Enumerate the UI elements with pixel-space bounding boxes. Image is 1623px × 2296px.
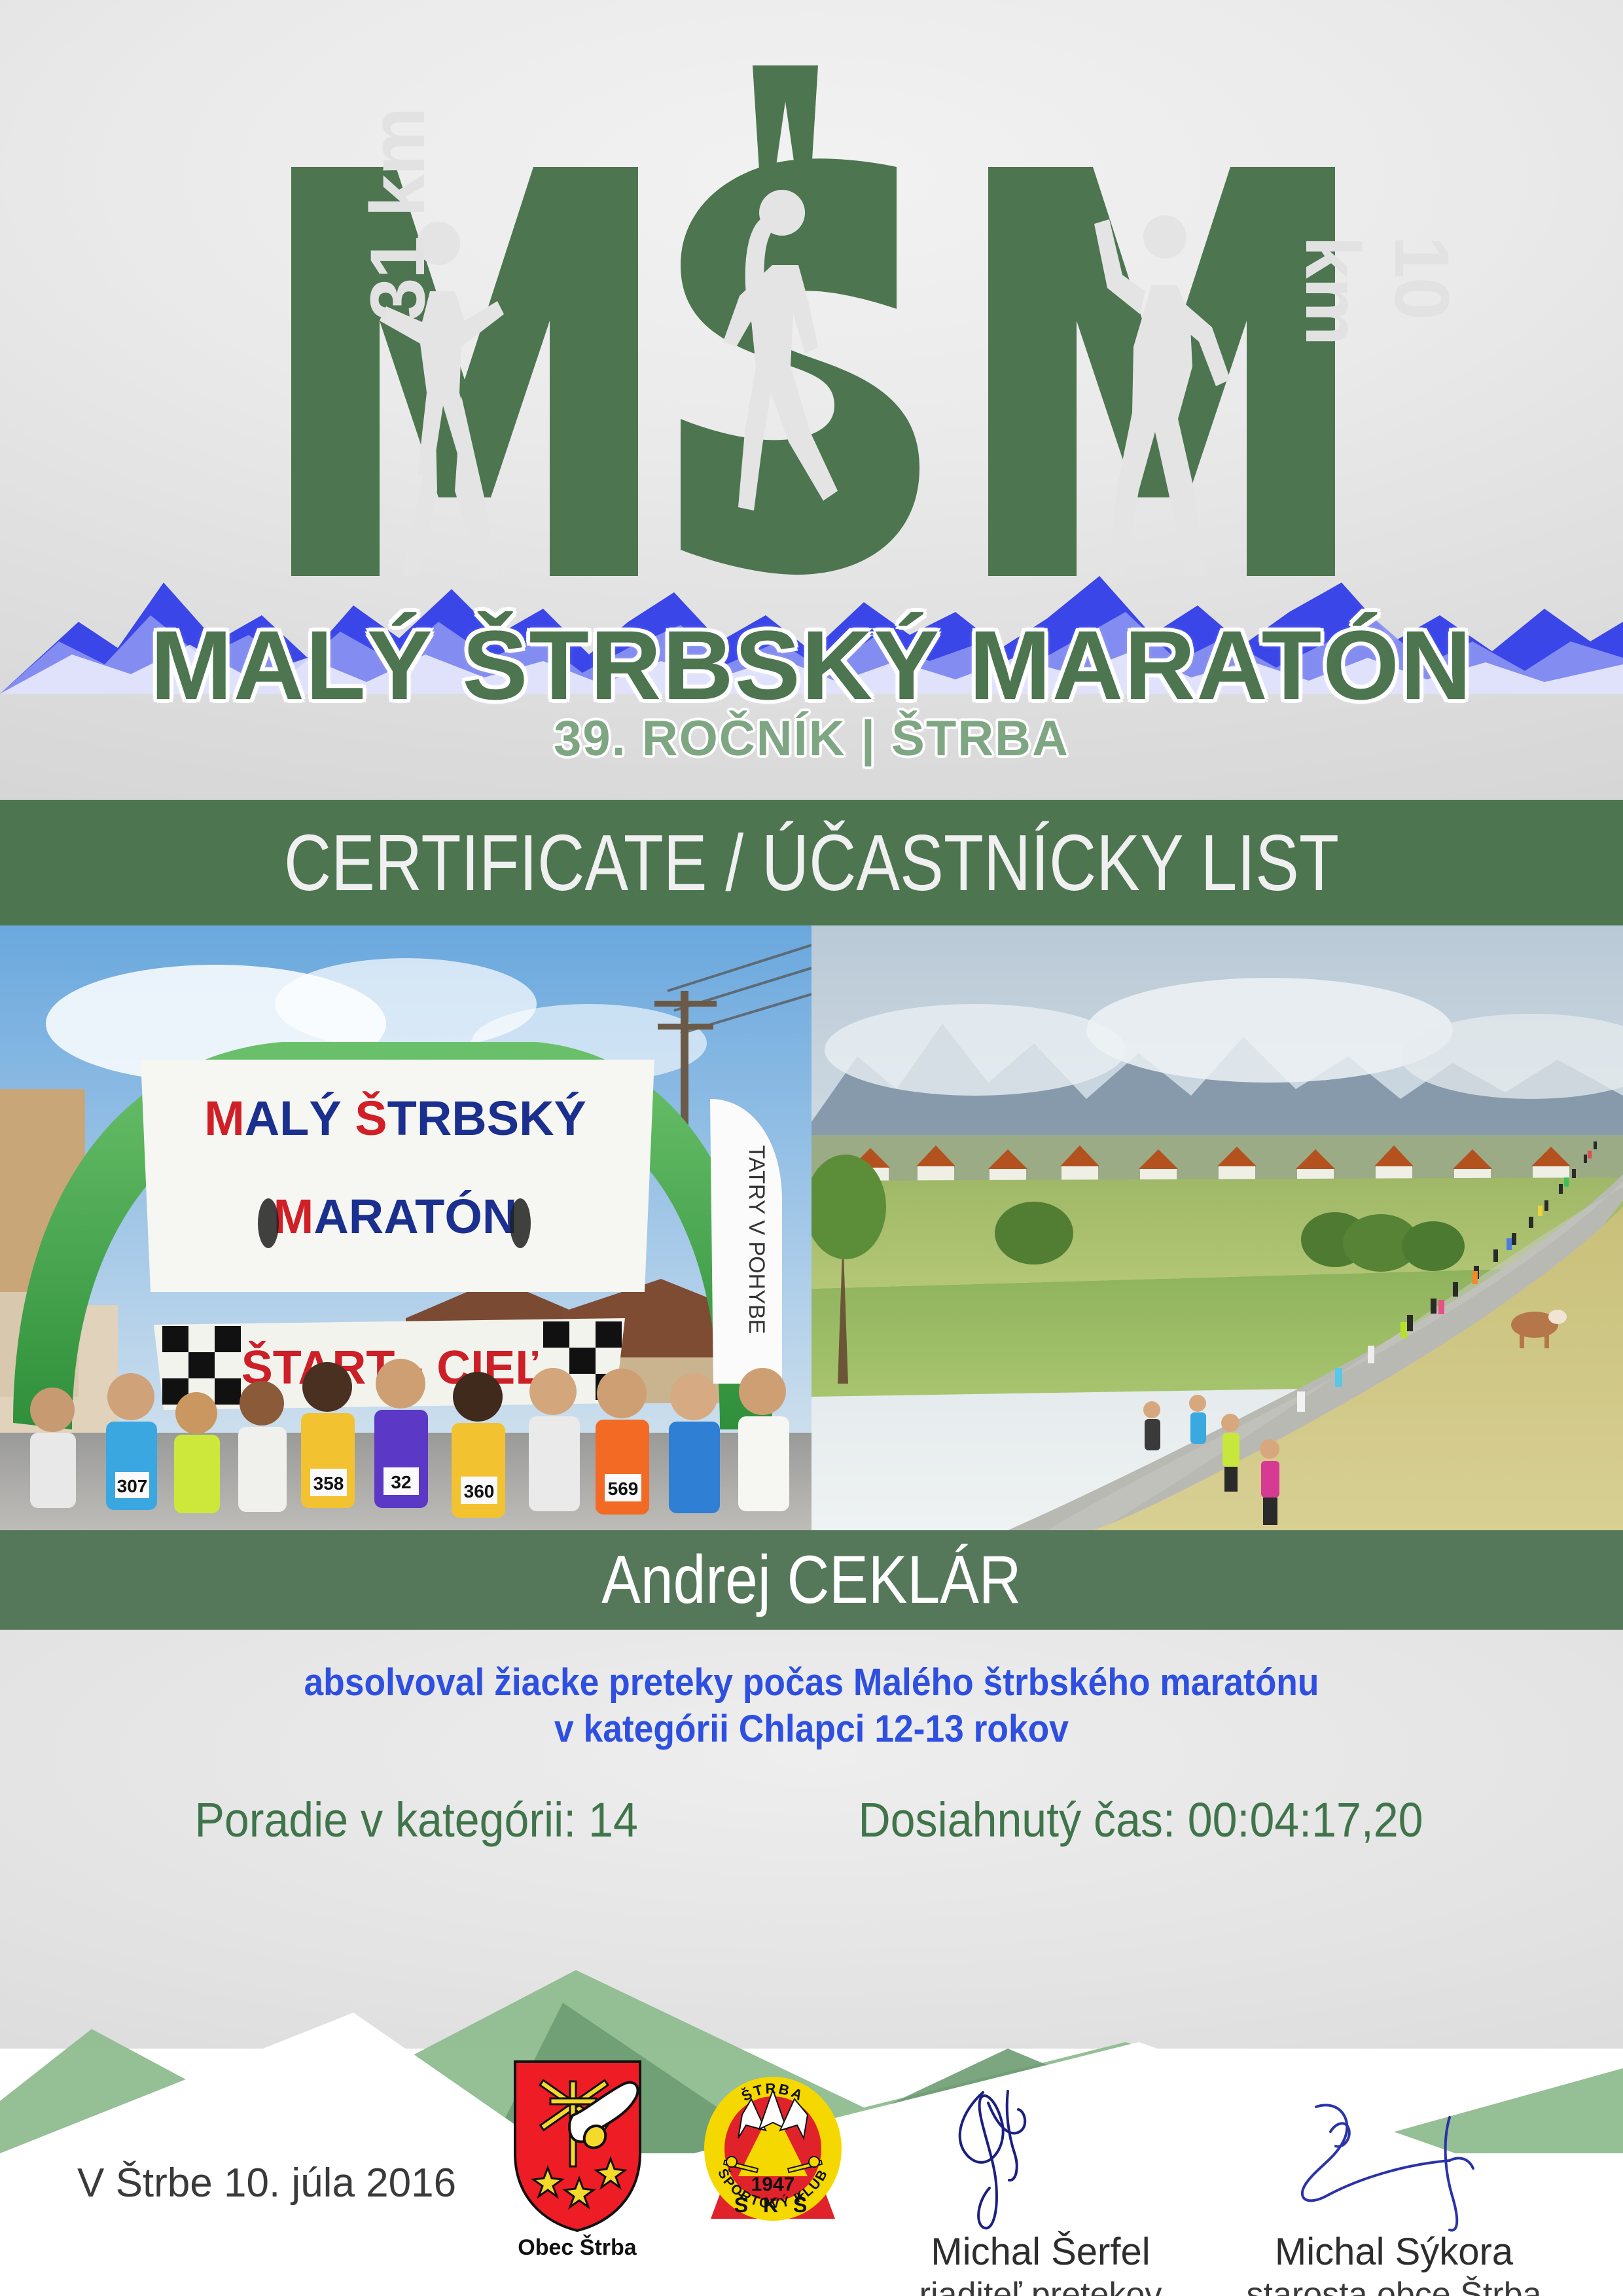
msm-wordmark-logo: 31 km 10 km <box>157 39 1466 576</box>
distance-left-label: 31 km <box>353 108 442 321</box>
logo-header-area: 31 km 10 km MALÝ ŠTRBSKÝ MARATÓN 39. ROČ… <box>0 0 1623 800</box>
crest-label: Obec Štrba <box>518 2234 637 2260</box>
description-line-1: absolvoval žiacke preteky počas Malého š… <box>304 1661 1319 1704</box>
caron-mark <box>753 65 818 170</box>
photo-countryside-road <box>811 925 1623 1530</box>
signature-name-1: Michal Šerfel <box>870 2230 1211 2274</box>
results-row: Poradie v kategórii: 14 Dosiahnutý čas: … <box>0 1792 1623 1848</box>
signature-serfel <box>910 2085 1171 2235</box>
photo-start-line: MALÝ ŠTRBSKÝ MARATÓN <box>0 925 811 1530</box>
countryside-photo-svg <box>811 925 1623 1530</box>
certificate-page: 31 km 10 km MALÝ ŠTRBSKÝ MARATÓN 39. ROČ… <box>0 0 1623 2296</box>
category-rank: Poradie v kategórii: 14 <box>194 1792 637 1848</box>
certificate-heading-band: CERTIFICATE / ÚČASTNÍCKY LIST <box>0 800 1623 925</box>
sks-club-logo: 1947 ŠTRBA ŠPORTOVÝ KLUB Š K Š <box>695 2052 851 2268</box>
certificate-heading: CERTIFICATE / ÚČASTNÍCKY LIST <box>284 817 1339 908</box>
svg-text:307: 307 <box>117 1476 148 1496</box>
svg-text:MALÝ ŠTRBSKÝ: MALÝ ŠTRBSKÝ <box>204 1091 586 1145</box>
signature-role-1: riaditeľ pretekov <box>870 2275 1211 2296</box>
signature-role-2: starosta obce Štrba <box>1224 2275 1564 2296</box>
sks-year: 1947 <box>751 2174 795 2195</box>
description-line-2: v kategórii Chlapci 12-13 rokov <box>65 1706 1558 1753</box>
participant-name: Andrej CEKLÁR <box>601 1541 1021 1619</box>
svg-text:358: 358 <box>313 1473 344 1494</box>
sks-bottom-text: Š K Š <box>734 2193 812 2217</box>
event-subtitle: 39. ROČNÍK | ŠTRBA <box>0 710 1623 767</box>
signature-name-2: Michal Sýkora <box>1224 2230 1564 2274</box>
achieved-time: Dosiahnutý čas: 00:04:17,20 <box>859 1792 1423 1848</box>
participant-name-band: Andrej CEKLÁR <box>0 1530 1623 1630</box>
sks-logo-svg: 1947 ŠTRBA ŠPORTOVÝ KLUB Š K Š <box>695 2052 851 2268</box>
signature-block-director: Michal Šerfel riaditeľ pretekov <box>870 2085 1211 2296</box>
achievement-description: absolvoval žiacke preteky počas Malého š… <box>65 1660 1558 1753</box>
svg-text:32: 32 <box>391 1472 411 1492</box>
signature-sykora <box>1253 2091 1535 2235</box>
svg-text:MARATÓN: MARATÓN <box>274 1189 518 1244</box>
start-line-photo-svg: MALÝ ŠTRBSKÝ MARATÓN <box>0 925 811 1530</box>
photo-strip: MALÝ ŠTRBSKÝ MARATÓN <box>0 925 1623 1530</box>
place-and-date: V Štrbe 10. júla 2016 <box>77 2160 456 2206</box>
distance-right-label: 10 km <box>1288 236 1466 345</box>
crest-svg: Obec Štrba <box>507 2055 648 2265</box>
signature-block-mayor: Michal Sýkora starosta obce Štrba <box>1224 2091 1564 2296</box>
svg-text:360: 360 <box>464 1481 495 1501</box>
obec-strba-crest: Obec Štrba <box>507 2055 648 2265</box>
event-title: MALÝ ŠTRBSKÝ MARATÓN <box>0 609 1623 722</box>
svg-text:569: 569 <box>608 1479 639 1499</box>
svg-text:TATRY V POHYBE: TATRY V POHYBE <box>744 1145 769 1334</box>
runner-crowd: 307 358 32 360 <box>30 1359 789 1518</box>
